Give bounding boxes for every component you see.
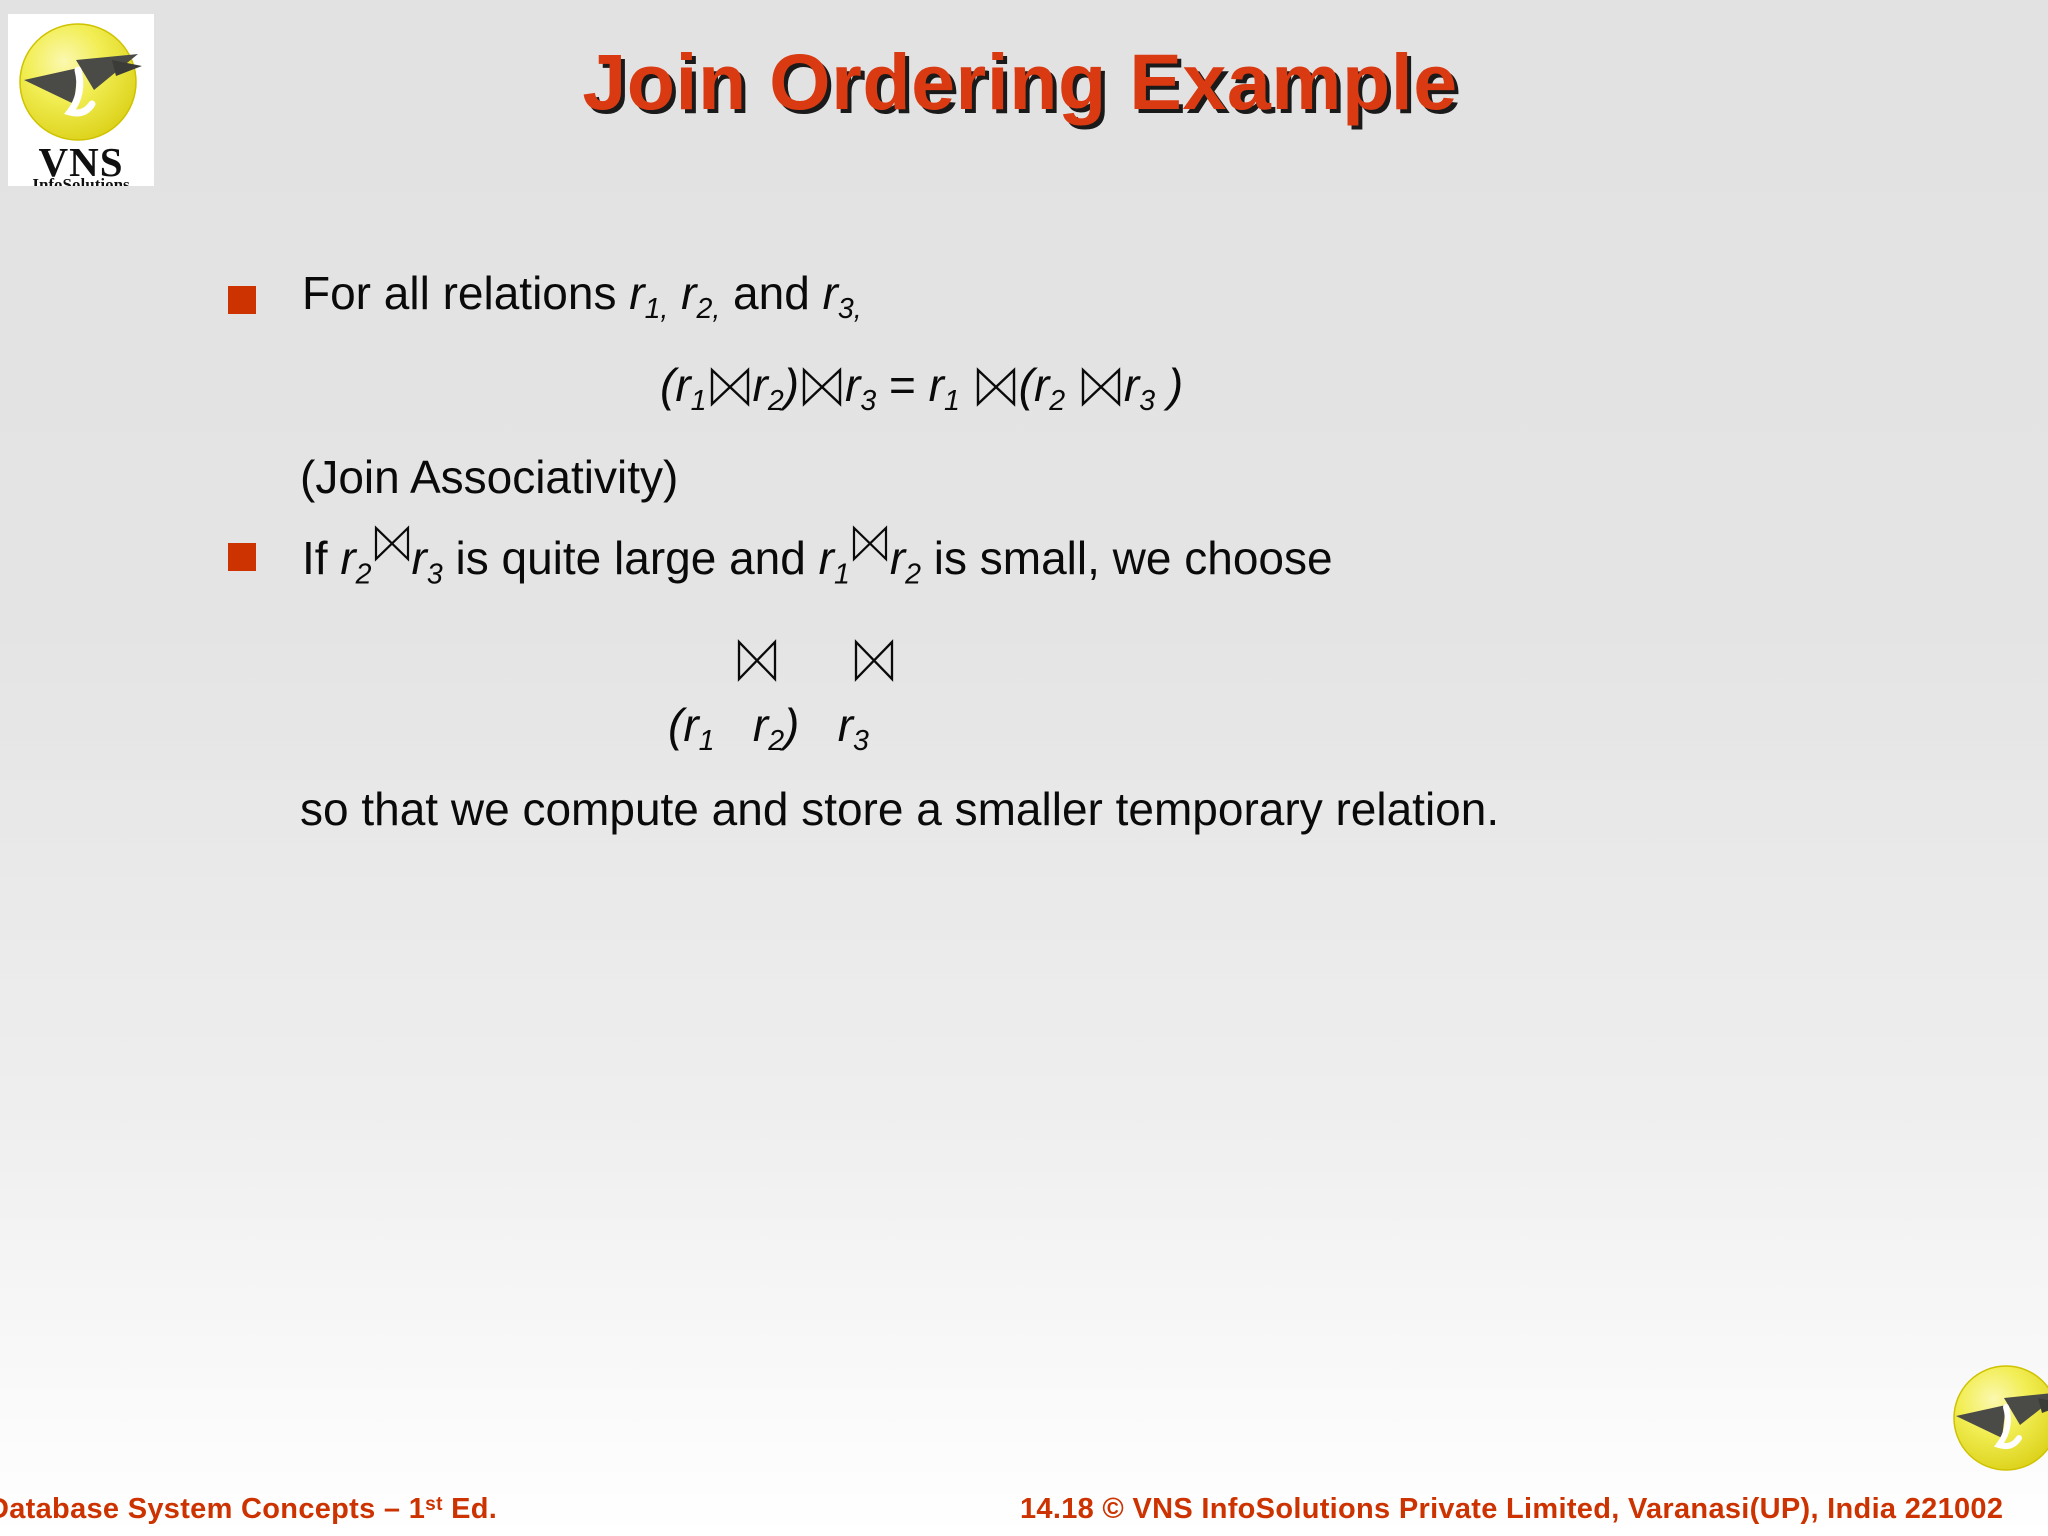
equation-join-associativity: (r1r2)r3 = r1 (r2 r3 ) xyxy=(660,358,1183,418)
join-associativity-label: (Join Associativity) xyxy=(300,450,678,504)
bullet-2-r2: r xyxy=(340,532,355,584)
bullet-1-r3-sub: 3, xyxy=(838,293,862,325)
footer-left-text: Database System Concepts – 1st Ed. xyxy=(0,1493,497,1526)
corner-vns-logo xyxy=(1950,1362,2048,1474)
join-icon xyxy=(707,365,753,409)
eq2-r2-sub: 2 xyxy=(768,725,784,757)
bullet-1-text: For all relations r1, r2, and r3, xyxy=(302,268,862,326)
join-icon xyxy=(799,365,845,409)
bullet-marker-icon xyxy=(228,543,256,571)
eq1-r1b-sub: 1 xyxy=(944,385,960,417)
bullet-2-r2-sub: 2 xyxy=(356,558,372,590)
eq1-r1: r xyxy=(675,359,690,411)
eq1-open-paren: ( xyxy=(660,359,675,411)
eq1-open-paren-2: ( xyxy=(1019,359,1034,411)
eq1-close-paren-2: ) xyxy=(1155,359,1183,411)
equation-chosen-order: (r1 r2) r3 xyxy=(668,698,869,758)
eq1-r1b: r xyxy=(929,359,944,411)
bullet-2-suffix: is small, we choose xyxy=(921,532,1333,584)
eq2-open-paren: ( xyxy=(668,699,683,751)
bullet-2-r3: r xyxy=(412,532,427,584)
bullet-1-space1 xyxy=(668,267,681,319)
eq1-r2b: r xyxy=(1034,359,1049,411)
eq2-gap-1 xyxy=(715,699,753,751)
slide-footer: Database System Concepts – 1st Ed. 14.18… xyxy=(0,1470,2048,1536)
footer-left-sup: st xyxy=(425,1494,443,1515)
bullet-1-r1-sub: 1, xyxy=(645,293,669,325)
eq1-r1-sub: 1 xyxy=(691,385,707,417)
bullet-2-r1: r xyxy=(819,532,834,584)
join-icon xyxy=(1078,365,1124,409)
bullet-2-text: If r2r3 is quite large and r1r2 is small… xyxy=(302,525,1333,591)
bullet-1-prefix: For all relations xyxy=(302,267,629,319)
bullet-2-r2b-sub: 2 xyxy=(905,558,921,590)
join-icon xyxy=(973,365,1019,409)
eq2-r1: r xyxy=(683,699,698,751)
bullet-2-r3-sub: 3 xyxy=(427,558,443,590)
join-icon xyxy=(372,525,412,565)
eq1-r3b: r xyxy=(1124,359,1139,411)
eq2-gap-2 xyxy=(799,699,837,751)
eq1-space xyxy=(960,359,973,411)
eq2-r2: r xyxy=(753,699,768,751)
bullet-item-1: For all relations r1, r2, and r3, xyxy=(228,268,862,326)
slide-canvas: VNS InfoSolutions Join Ordering Example … xyxy=(0,0,2048,1536)
bullet-item-2: If r2r3 is quite large and r1r2 is small… xyxy=(228,525,1333,591)
join-icon xyxy=(852,638,896,684)
eq1-r2: r xyxy=(753,359,768,411)
join-icon xyxy=(735,638,779,684)
bullet-1-r3: r xyxy=(823,267,838,319)
bullet-2-r2b: r xyxy=(890,532,905,584)
eq1-r3b-sub: 3 xyxy=(1139,385,1155,417)
eq1-close-paren: ) xyxy=(784,359,799,411)
slide-body: For all relations r1, r2, and r3, (r1r2)… xyxy=(0,0,2048,1536)
eq1-r3: r xyxy=(845,359,860,411)
footer-left-post: Ed. xyxy=(443,1493,497,1525)
bullet-2-prefix: If xyxy=(302,532,340,584)
eq2-r1-sub: 1 xyxy=(699,725,715,757)
eq1-r2-sub: 2 xyxy=(768,385,784,417)
bullet-2-mid: is quite large and xyxy=(443,532,819,584)
eq1-equals: = xyxy=(876,359,928,411)
vns-logo-face-icon xyxy=(1950,1362,2048,1474)
eq2-r3-sub: 3 xyxy=(853,725,869,757)
footer-right-text: 14.18 © VNS InfoSolutions Private Limite… xyxy=(1020,1493,2003,1526)
eq1-r2b-sub: 2 xyxy=(1049,385,1065,417)
join-icon xyxy=(850,525,890,565)
eq1-space-2 xyxy=(1065,359,1078,411)
eq1-r3-sub: 3 xyxy=(860,385,876,417)
bullet-marker-icon xyxy=(228,286,256,314)
closing-sentence: so that we compute and store a smaller t… xyxy=(300,782,1499,836)
bullet-1-r2: r xyxy=(681,267,696,319)
eq2-r3: r xyxy=(838,699,853,751)
bullet-1-r2-sub: 2, xyxy=(696,293,720,325)
eq2-close-paren: ) xyxy=(784,699,799,751)
bullet-1-mid: and xyxy=(720,267,822,319)
bullet-2-r1-sub: 1 xyxy=(834,558,850,590)
bullet-1-r1: r xyxy=(629,267,644,319)
footer-left-pre: Database System Concepts – 1 xyxy=(0,1493,425,1525)
